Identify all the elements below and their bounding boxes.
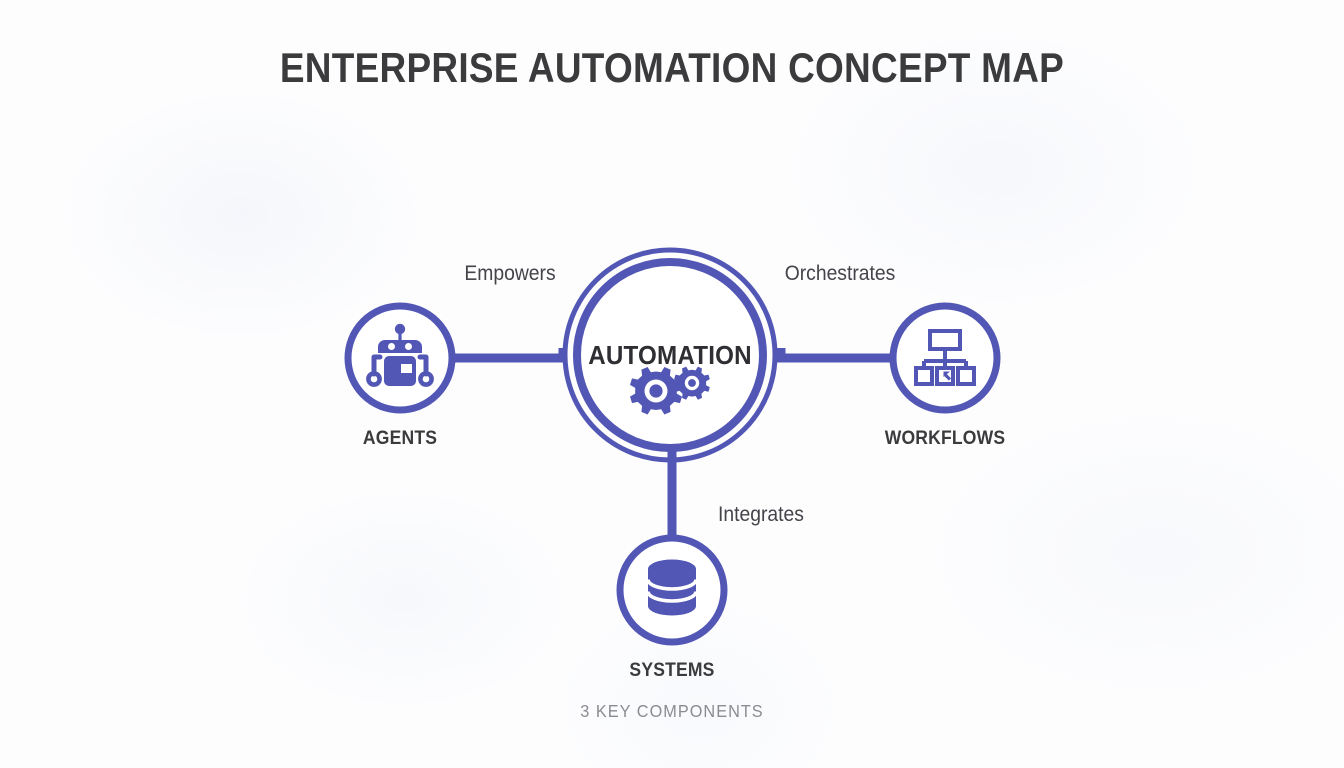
node-systems[interactable] xyxy=(620,538,724,642)
edge-label-orchestrates: Orchestrates xyxy=(739,262,941,286)
hub-label: AUTOMATION xyxy=(484,340,856,371)
footer-caption: 3 KEY COMPONENTS xyxy=(47,701,1297,722)
edge-label-empowers: Empowers xyxy=(409,262,611,286)
node-label-agents: AGENTS xyxy=(310,427,490,450)
node-label-systems: SYSTEMS xyxy=(582,659,762,682)
node-workflows[interactable] xyxy=(893,306,997,410)
node-label-workflows: WORKFLOWS xyxy=(855,427,1035,450)
concept-map-diagram xyxy=(0,0,1344,768)
concept-map-canvas: ENTERPRISE AUTOMATION CONCEPT MAP xyxy=(0,0,1344,768)
node-agents[interactable] xyxy=(348,306,452,410)
edge-label-integrates: Integrates xyxy=(664,503,857,527)
database-icon xyxy=(648,560,696,616)
